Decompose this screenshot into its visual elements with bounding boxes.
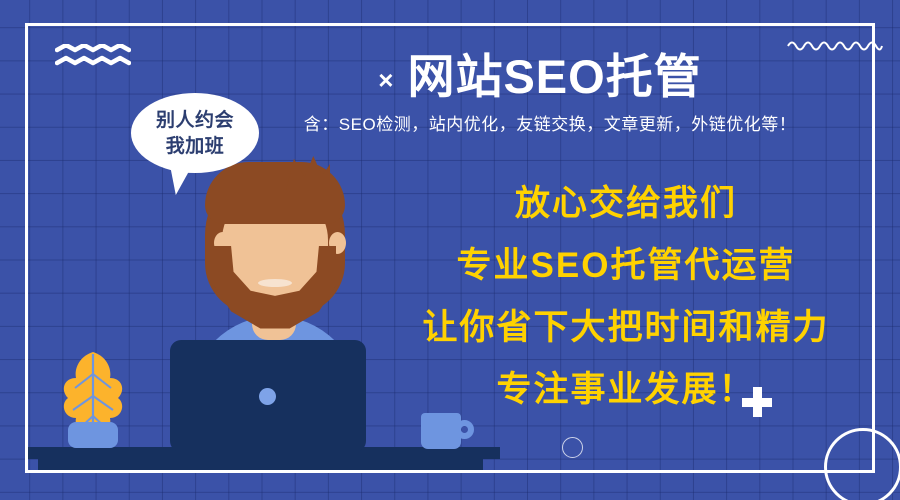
slogan-block: 放心交给我们 专业SEO托管代运营 让你省下大把时间和精力 专注事业发展！	[395, 186, 857, 407]
page-title: 网站SEO托管	[407, 53, 701, 100]
speech-bubble-text: 别人约会 我加班	[131, 99, 259, 169]
title-bullet-icon: ×	[378, 67, 393, 93]
speech-bubble-line-2: 我加班	[166, 134, 225, 160]
banner-subtitle: 含：SEO检测，站内优化，友链交换，文章更新，外链优化等！	[300, 116, 800, 133]
seo-hosting-banner: 别人约会 我加班 × 网站SEO托管 含：SEO检测，站内优化，友链交换，文章更…	[0, 0, 900, 500]
slogan-line-1: 放心交给我们	[395, 186, 857, 221]
slogan-line-2: 专业SEO托管代运营	[395, 248, 857, 283]
wavy-line-icon	[787, 38, 883, 54]
desk-front-edge	[38, 459, 483, 473]
wave-lines-icon	[55, 44, 131, 70]
person-hair-front	[205, 162, 345, 224]
speech-bubble-line-1: 别人约会	[156, 108, 234, 134]
slogan-line-3: 让你省下大把时间和精力	[395, 310, 857, 345]
corner-circle-icon	[824, 428, 900, 500]
person-mouth-inner	[258, 279, 292, 287]
laptop-logo-dot	[259, 388, 276, 405]
circle-outline-icon	[562, 437, 583, 458]
plant-pot	[68, 422, 118, 448]
banner-title-row: × 网站SEO托管	[330, 46, 750, 106]
slogan-line-4: 专注事业发展！	[395, 372, 857, 407]
coffee-mug-handle	[455, 420, 474, 439]
